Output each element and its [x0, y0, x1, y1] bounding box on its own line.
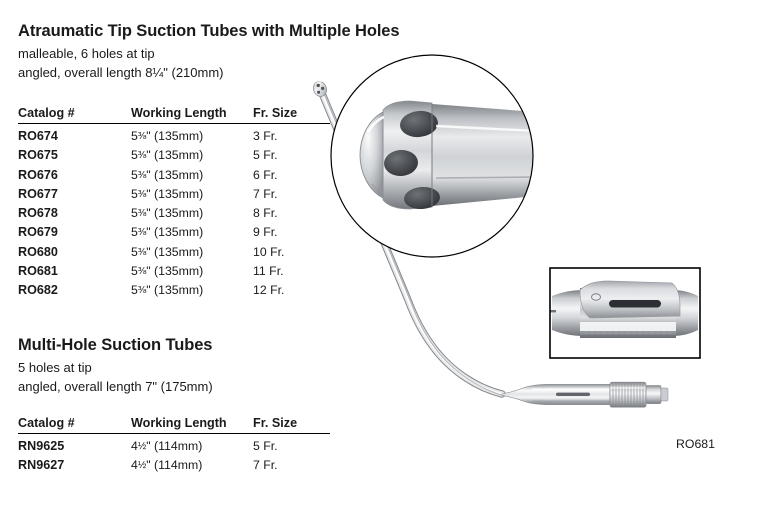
section-2-title: Multi-Hole Suction Tubes	[18, 336, 213, 355]
cell-working-length: 5⅜" (135mm)	[131, 242, 253, 261]
column-header-catalog: Catalog #	[18, 106, 131, 124]
cell-catalog: RO680	[18, 242, 131, 261]
cell-catalog: RO677	[18, 184, 131, 203]
cell-catalog: RO674	[18, 124, 131, 146]
section-2-subtitle-2: angled, overall length 7" (175mm)	[18, 378, 213, 397]
cell-catalog: RO681	[18, 261, 131, 280]
handle-vent-closeup	[550, 268, 700, 358]
cell-working-length: 5⅜" (135mm)	[131, 204, 253, 223]
cell-catalog: RO678	[18, 204, 131, 223]
cell-catalog: RO679	[18, 223, 131, 242]
cell-catalog: RO682	[18, 281, 131, 300]
cell-working-length: 5⅜" (135mm)	[131, 124, 253, 146]
cell-working-length: 5⅜" (135mm)	[131, 281, 253, 300]
cell-working-length: 5⅜" (135mm)	[131, 146, 253, 165]
cell-working-length: 4½" (114mm)	[131, 434, 253, 456]
column-header-working-length: Working Length	[131, 106, 253, 124]
catalog-page: Atraumatic Tip Suction Tubes with Multip…	[0, 0, 760, 522]
atraumatic-tip-closeup	[331, 55, 536, 257]
cell-catalog: RN9625	[18, 434, 131, 456]
cell-working-length: 5⅜" (135mm)	[131, 165, 253, 184]
cell-working-length: 5⅜" (135mm)	[131, 261, 253, 280]
cell-working-length: 5⅜" (135mm)	[131, 184, 253, 203]
knurled-connector	[610, 382, 668, 407]
cell-working-length: 5⅜" (135mm)	[131, 223, 253, 242]
cell-working-length: 4½" (114mm)	[131, 456, 253, 475]
section-2-subtitle-1: 5 holes at tip	[18, 359, 213, 378]
column-header-catalog: Catalog #	[18, 416, 131, 434]
instrument-handle	[502, 384, 610, 404]
cell-catalog: RN9627	[18, 456, 131, 475]
photo-caption: RO681	[676, 437, 715, 451]
cell-catalog: RO675	[18, 146, 131, 165]
column-header-working-length: Working Length	[131, 416, 253, 434]
section-multi-hole: Multi-Hole Suction Tubes 5 holes at tip …	[18, 336, 213, 397]
cell-catalog: RO676	[18, 165, 131, 184]
